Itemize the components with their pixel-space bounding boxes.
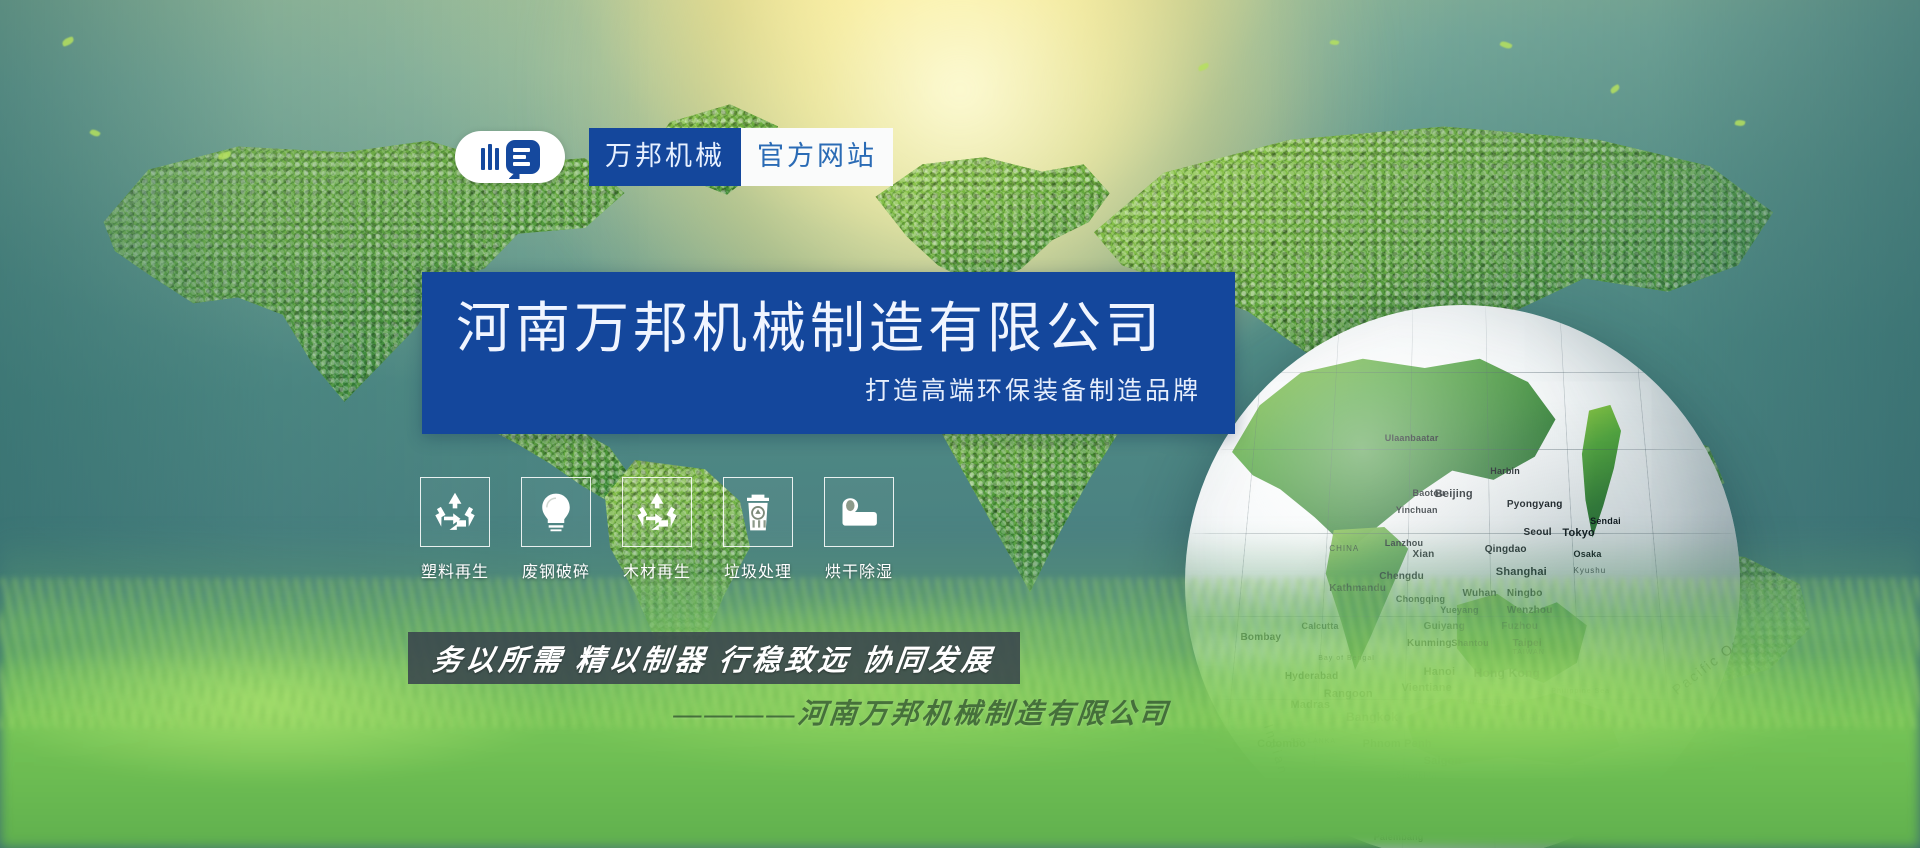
page-subtitle: 打造高端环保装备制造品牌: [456, 371, 1201, 407]
main-banner: 河南万邦机械制造有限公司 打造高端环保装备制造品牌: [422, 272, 1235, 434]
service-item-1[interactable]: 塑料再生: [420, 477, 490, 582]
site-header: 万邦机械 官方网站: [455, 128, 893, 186]
service-label: 废钢破碎: [522, 558, 590, 582]
logo-speech-bubble-icon: [506, 140, 540, 174]
service-label: 垃圾处理: [724, 558, 792, 582]
service-item-3[interactable]: 木材再生: [622, 477, 692, 582]
recycle-icon: [635, 490, 679, 534]
service-label: 木材再生: [623, 558, 691, 582]
dryer-blower-icon: [837, 490, 881, 534]
globe-label-ulaanbaatar: Ulaanbaatar: [1385, 433, 1439, 443]
company-logo[interactable]: [455, 131, 565, 183]
service-icon-box[interactable]: [420, 477, 490, 547]
slogan-banner: 务以所需 精以制器 行稳致远 协同发展: [408, 632, 1020, 684]
service-icon-box[interactable]: [723, 477, 793, 547]
globe-label-baotou: Baotou: [1413, 488, 1445, 498]
hero-banner-page: UlaanbaatarBeijingPyongyangSeoulTokyoSen…: [0, 0, 1920, 848]
globe-label-harbin: Harbin: [1490, 466, 1520, 476]
service-label: 塑料再生: [421, 558, 489, 582]
page-title: 河南万邦机械制造有限公司: [456, 299, 1201, 358]
service-label: 烘干除湿: [825, 558, 893, 582]
globe-label-pyongyang: Pyongyang: [1507, 499, 1563, 510]
globe-label-sendai: Sendai: [1590, 516, 1621, 526]
service-icon-box[interactable]: [622, 477, 692, 547]
slogan-attribution: ————河南万邦机械制造有限公司: [672, 692, 1196, 732]
recycle-icon: [433, 490, 477, 534]
service-item-5[interactable]: 烘干除湿: [824, 477, 894, 582]
service-icon-box[interactable]: [824, 477, 894, 547]
service-item-2[interactable]: 废钢破碎: [521, 477, 591, 582]
service-item-4[interactable]: 垃圾处理: [723, 477, 793, 582]
tab-official-site[interactable]: 官方网站: [741, 128, 893, 186]
service-icon-row: 塑料再生废钢破碎木材再生垃圾处理烘干除湿: [420, 477, 894, 582]
service-icon-box[interactable]: [521, 477, 591, 547]
slogan-text: 务以所需 精以制器 行稳致远 协同发展: [431, 637, 998, 679]
tab-brand[interactable]: 万邦机械: [589, 128, 741, 186]
globe-label-yinchuan: Yinchuan: [1396, 505, 1438, 515]
lightbulb-icon: [534, 490, 578, 534]
logo-w-mark-icon: [481, 144, 499, 170]
trash-bin-recycle-icon: [736, 490, 780, 534]
